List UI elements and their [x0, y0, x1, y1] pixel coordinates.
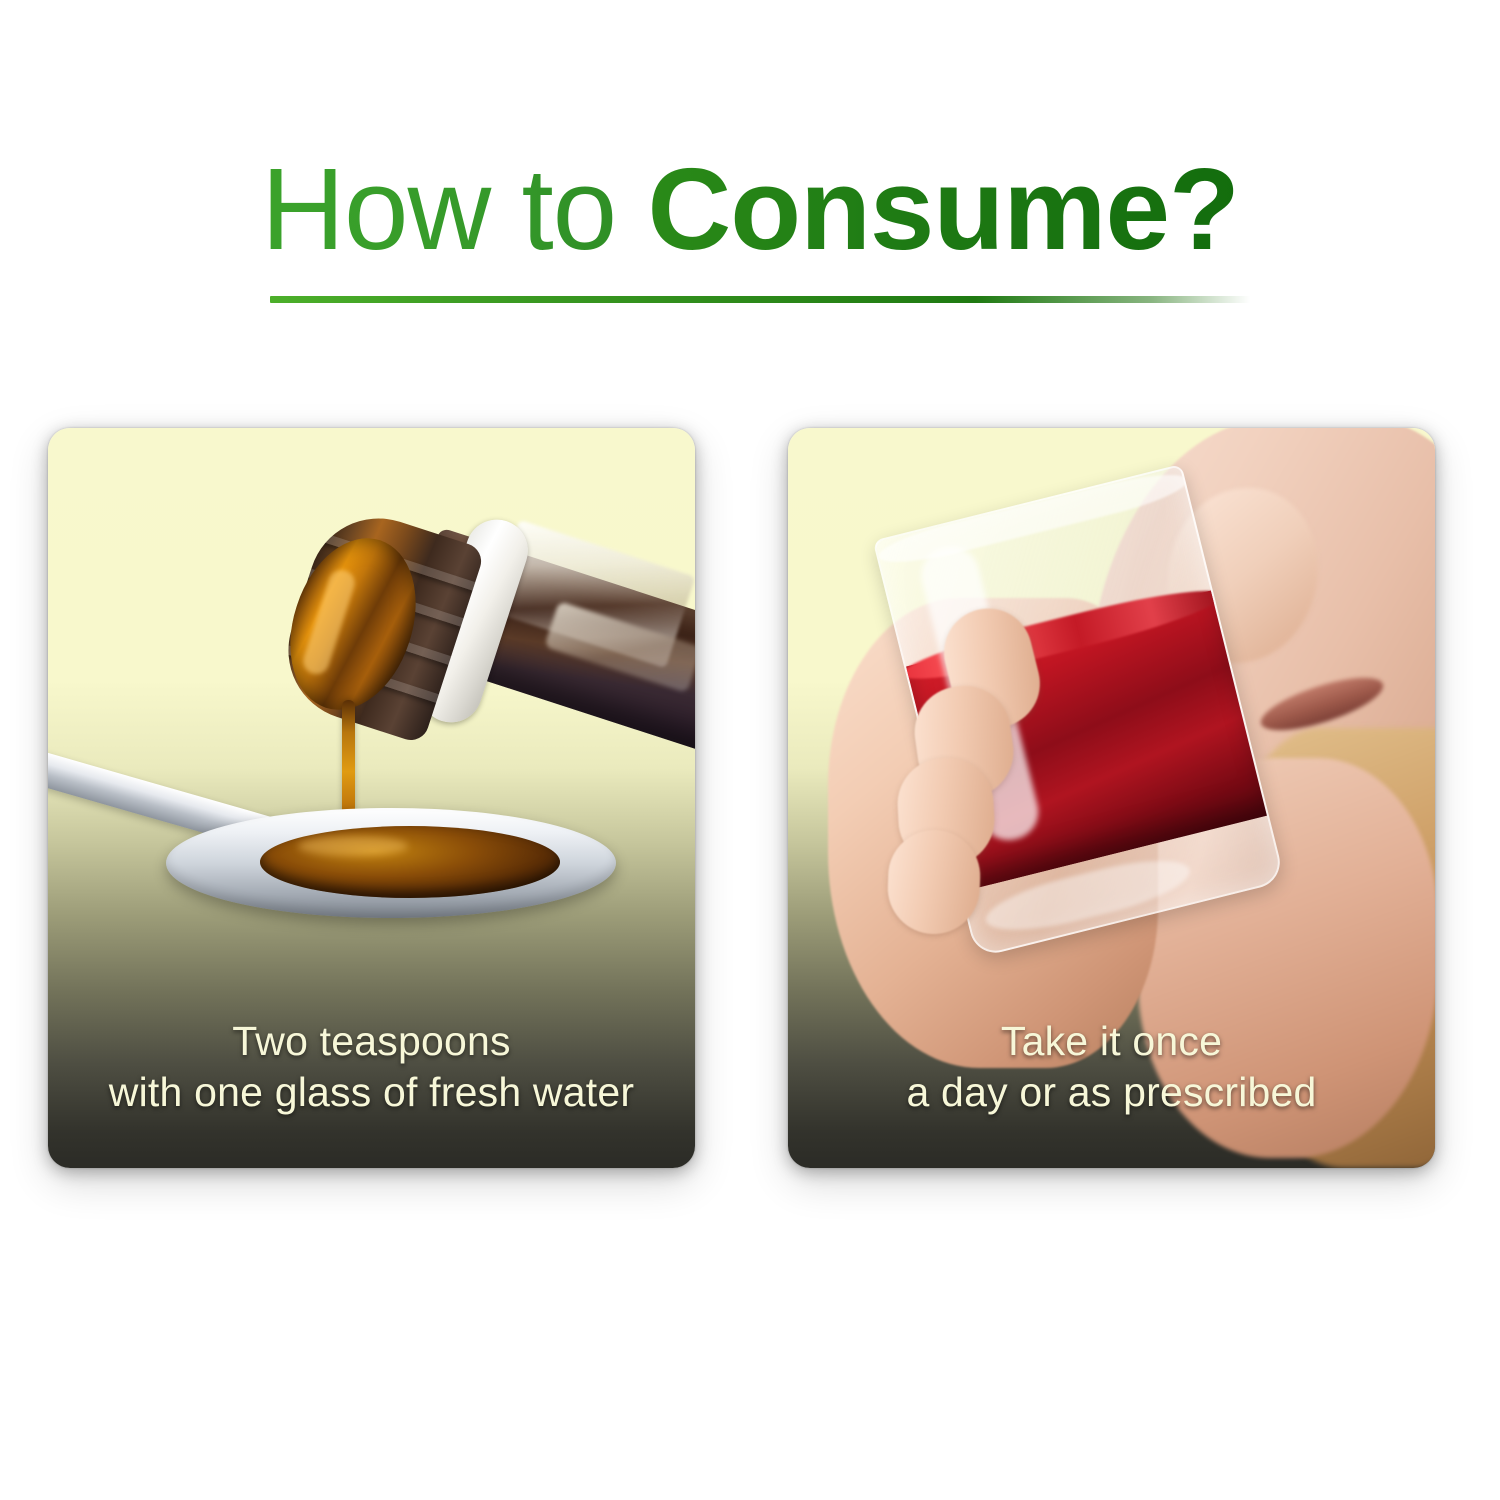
glass-rim-shape [875, 465, 1191, 571]
card-caption: Two teaspoons with one glass of fresh wa… [48, 1016, 695, 1118]
page-title: How to Consume? [0, 150, 1500, 268]
how-to-consume-infographic: How to Consume? [0, 0, 1500, 1500]
headline: How to Consume? [261, 150, 1239, 268]
syrup-pool-shape [260, 826, 560, 898]
headline-light-part: How to [261, 144, 647, 274]
caption-line-2: with one glass of fresh water [48, 1067, 695, 1118]
caption-line-2: a day or as prescribed [788, 1067, 1435, 1118]
syrup-pool-highlight-shape [298, 836, 408, 856]
title-underline-rule [270, 296, 1250, 303]
headline-bold-part: Consume? [647, 144, 1238, 274]
card-teaspoons[interactable]: Two teaspoons with one glass of fresh wa… [48, 428, 695, 1168]
caption-line-1: Two teaspoons [48, 1016, 695, 1067]
card-row: Two teaspoons with one glass of fresh wa… [48, 428, 1435, 1168]
caption-line-1: Take it once [788, 1016, 1435, 1067]
card-frequency[interactable]: Take it once a day or as prescribed [788, 428, 1435, 1168]
card-caption: Take it once a day or as prescribed [788, 1016, 1435, 1118]
